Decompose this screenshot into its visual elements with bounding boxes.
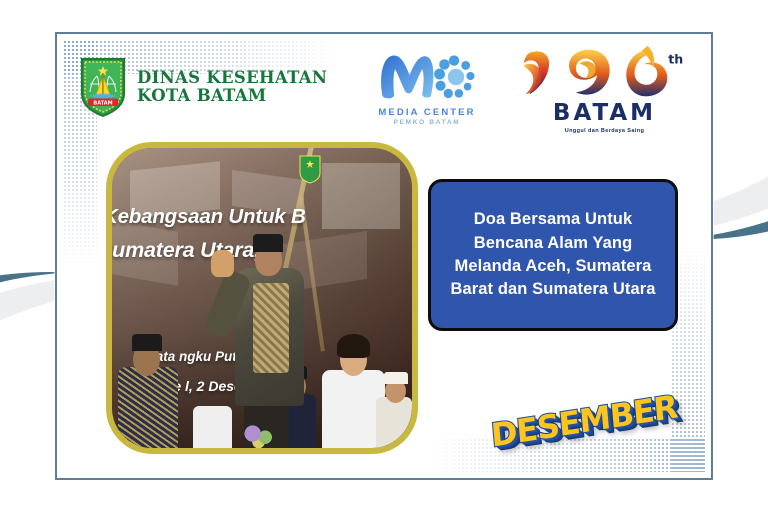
batam-coat-of-arms-icon: BATAM (79, 56, 127, 118)
logo-dinas-kesehatan: BATAM DINAS KESEHATAN KOTA BATAM (79, 56, 327, 118)
month-badge-label: DESEMBER (490, 387, 679, 454)
dinas-kesehatan-text: DINAS KESEHATAN KOTA BATAM (137, 69, 327, 105)
speaker-figure (253, 234, 283, 252)
logo-media-center: MEDIA CENTER PEMKO BATAM (362, 48, 492, 126)
media-center-line-1: MEDIA CENTER (362, 107, 492, 118)
header-logo-row: BATAM DINAS KESEHATAN KOTA BATAM (57, 34, 715, 144)
audience-member-far-right (384, 372, 408, 384)
audience-member-left (132, 334, 162, 351)
poster-canvas: BATAM DINAS KESEHATAN KOTA BATAM (0, 0, 768, 512)
crest-banner-label: BATAM (93, 100, 112, 106)
table-flowers (241, 424, 280, 448)
dinas-line-1: DINAS KESEHATAN (137, 69, 327, 87)
audience-member-far-right (376, 397, 412, 448)
anniversary-196-mark-icon: th (515, 42, 695, 104)
media-center-mark-icon (367, 48, 487, 106)
anniversary-tagline: Unggul dan Berdaya Saing (512, 128, 697, 134)
backdrop-text-line-1: Kebangsaan Untuk B (112, 205, 412, 229)
audience-member-center-left (193, 406, 232, 448)
month-badge: DESEMBER (483, 373, 686, 469)
backdrop-crest-icon (298, 154, 322, 184)
message-box: Doa Bersama Untuk Bencana Alam Yang Mela… (428, 179, 678, 331)
message-box-text: Doa Bersama Untuk Bencana Alam Yang Mela… (431, 208, 675, 302)
media-center-line-2: PEMKO BATAM (362, 119, 492, 126)
event-photo: Kebangsaan Untuk B Sumatera Utara, S Dat… (112, 148, 412, 448)
anniversary-city-label: BATAM (512, 100, 697, 126)
speaker-figure (211, 250, 234, 277)
speaker-figure (253, 283, 289, 373)
event-photo-frame: Kebangsaan Untuk B Sumatera Utara, S Dat… (106, 142, 418, 454)
poster-card: BATAM DINAS KESEHATAN KOTA BATAM (55, 32, 713, 480)
logo-anniversary-196: th BATAM Unggul dan Berdaya Saing (512, 42, 697, 134)
audience-member-left (118, 367, 178, 448)
audience-member-right (337, 334, 370, 358)
dinas-line-2: KOTA BATAM (137, 87, 327, 105)
anniversary-ordinal-label: th (668, 51, 683, 66)
